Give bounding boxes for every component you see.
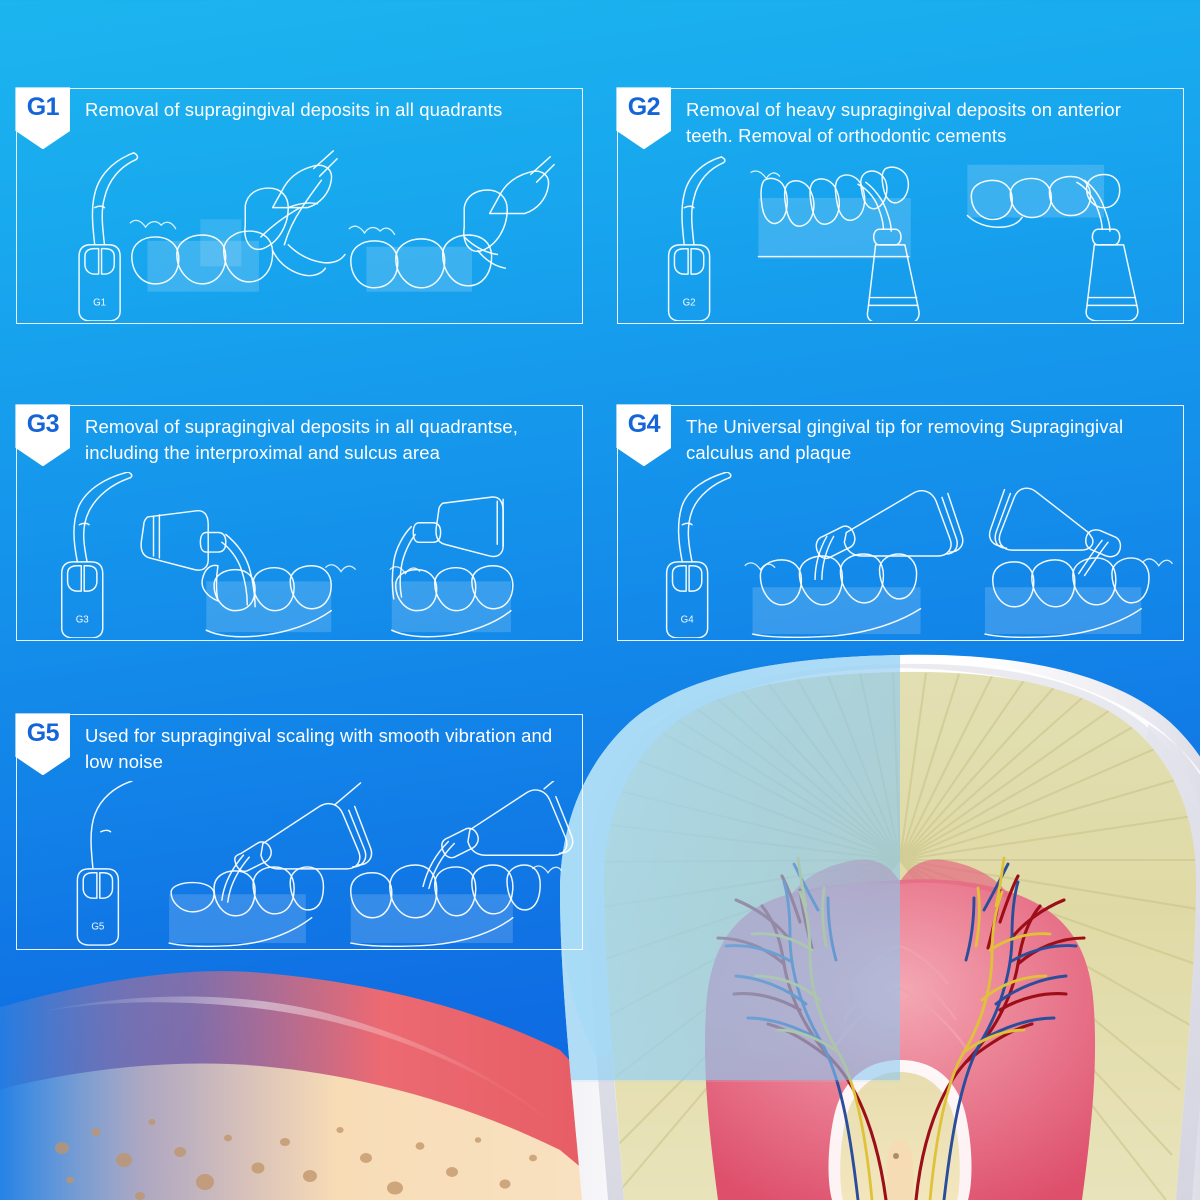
scaler-tip-slim-icon: G3 [62,472,132,638]
tip-badge-g2: G2 [616,87,671,149]
tip-illustration-g2: G2 [618,155,1183,321]
scaler-tip-smooth-icon: G5 [77,781,132,945]
tip-code-label-g3: G3 [76,614,89,625]
procedure-illustration-2 [985,488,1172,637]
procedure-illustration-2 [351,781,573,946]
tip-description-g5: Used for supragingival scaling with smoo… [85,723,580,775]
blue-translucent-overlay [555,640,900,1082]
tip-panel-g1[interactable]: G1 Removal of supragingival deposits in … [16,88,583,324]
tip-panel-g4[interactable]: G4 The Universal gingival tip for removi… [617,405,1184,641]
procedure-illustration-2 [390,497,513,637]
tip-description-g3: Removal of supragingival deposits in all… [85,414,580,466]
scaler-tip-curved-icon: G1 [79,153,137,321]
tip-badge-g3: G3 [15,404,70,466]
procedure-illustration-2 [967,165,1137,321]
tip-description-g4: The Universal gingival tip for removing … [686,414,1181,466]
tip-code-label-g1: G1 [93,297,106,308]
tip-badge-g5: G5 [15,713,70,775]
tip-badge-g1: G1 [15,87,70,149]
procedure-illustration-1 [745,491,963,638]
procedure-illustration-1 [751,167,919,321]
tip-illustration-g3: G3 [17,472,582,638]
tip-badge-g4: G4 [616,404,671,466]
tip-code-label-g2: G2 [683,297,696,308]
procedure-illustration-1 [130,151,345,292]
tip-description-g2: Removal of heavy supragingival deposits … [686,97,1181,149]
tip-illustration-g1: G1 [17,147,582,321]
scaler-tip-universal-icon: G4 [667,472,731,638]
tip-illustration-g5: G5 [17,781,582,947]
tip-illustration-g4: G4 [618,472,1183,638]
procedure-illustration-2 [349,157,554,292]
infographic-canvas: G1 Removal of supragingival deposits in … [0,0,1200,1200]
tip-description-g1: Removal of supragingival deposits in all… [85,97,585,123]
tip-code-label-g4: G4 [681,614,695,625]
procedure-illustration-1 [169,783,371,946]
tip-code-label-g5: G5 [91,921,105,932]
tip-panel-g3[interactable]: G3 Removal of supragingival deposits in … [16,405,583,641]
procedure-illustration-1 [141,511,356,637]
tip-panel-g5[interactable]: G5 Used for supragingival scaling with s… [16,714,583,950]
tip-panel-g2[interactable]: G2 Removal of heavy supragingival deposi… [617,88,1184,324]
scaler-tip-curved-icon: G2 [669,157,725,321]
